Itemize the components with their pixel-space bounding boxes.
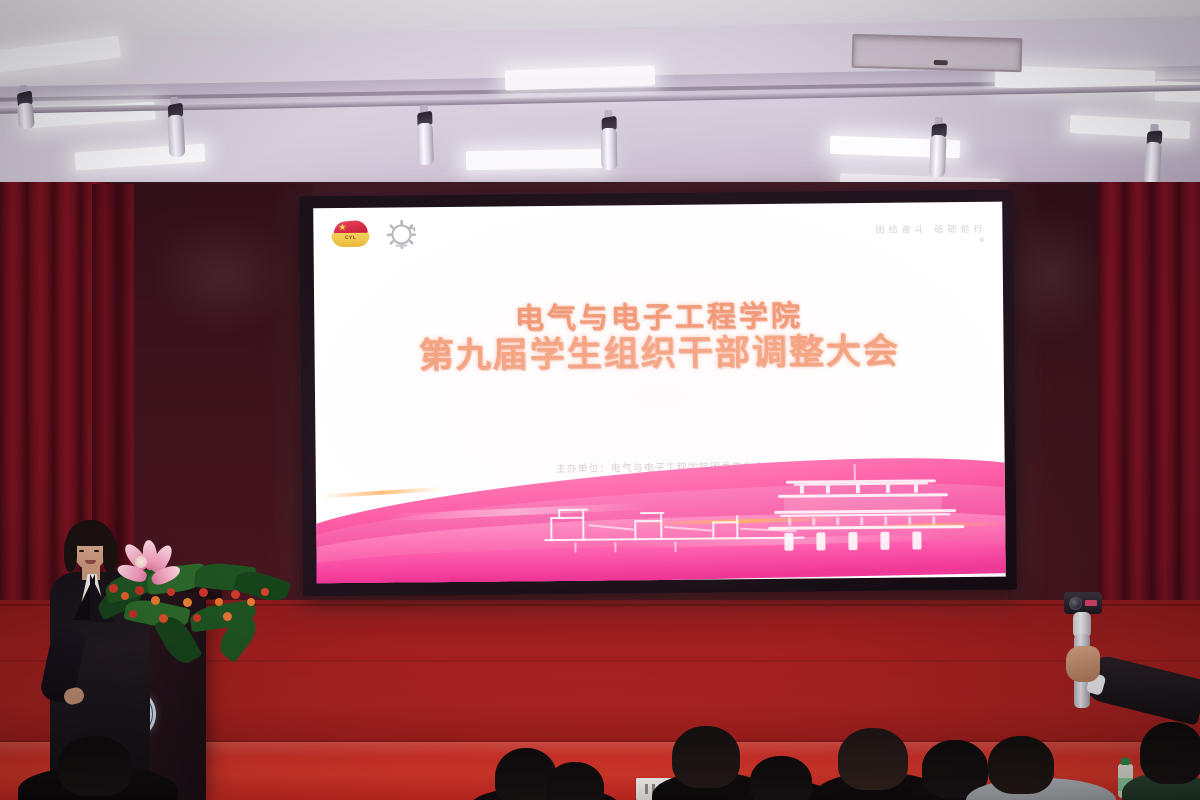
communist-youth-league-emblem-icon: CYL bbox=[331, 220, 369, 250]
audience-head bbox=[988, 736, 1054, 794]
track-spotlight bbox=[601, 117, 618, 169]
lily-center bbox=[135, 556, 147, 568]
presentation-slide: CYL bbox=[313, 202, 1006, 584]
audience-head bbox=[750, 756, 812, 800]
ceiling bbox=[0, 0, 1200, 186]
slide-title-line-1: 电气与电子工程学院 bbox=[314, 298, 1003, 337]
conference-hall-photo: CYL bbox=[0, 0, 1200, 800]
track-spotlight bbox=[1144, 131, 1163, 184]
great-wall-lineart bbox=[544, 495, 805, 555]
calligraphy-main-text: 团结奋斗 砥砺前行 bbox=[876, 222, 987, 236]
track-spotlight bbox=[929, 124, 947, 177]
projection-screen[interactable]: CYL bbox=[299, 190, 1017, 597]
slide-calligraphy: 团结奋斗 砥砺前行 题 bbox=[876, 222, 987, 245]
speaker-hair-side bbox=[64, 536, 77, 572]
videographer-hand bbox=[1062, 592, 1104, 722]
track-spotlight bbox=[167, 104, 186, 157]
audience-head bbox=[838, 728, 908, 790]
cyl-emblem-text: CYL bbox=[331, 235, 369, 241]
track-spotlight bbox=[416, 112, 434, 165]
calligraphy-signature: 题 bbox=[876, 237, 987, 245]
flower-arrangement bbox=[95, 540, 295, 670]
audience-head bbox=[58, 736, 132, 796]
ceiling-air-vent bbox=[852, 34, 1023, 72]
ceiling-soffit bbox=[0, 0, 1200, 40]
speaker-eye bbox=[79, 550, 84, 552]
audience-head bbox=[672, 726, 740, 788]
slide-title-line-2: 第九届学生组织干部调整大会 bbox=[314, 332, 1003, 378]
stage-curtain-right bbox=[1098, 182, 1200, 652]
ceiling-light-panel bbox=[75, 143, 206, 170]
tiananmen-lineart bbox=[768, 475, 979, 555]
camera-brand-tag bbox=[1085, 600, 1097, 606]
slide-title: 电气与电子工程学院 第九届学生组织干部调整大会 bbox=[314, 298, 1004, 378]
ceiling-light-panel bbox=[1070, 115, 1191, 139]
ceiling-light-panel bbox=[0, 36, 121, 75]
audience-head bbox=[1140, 722, 1200, 784]
university-gear-logo-icon bbox=[385, 218, 417, 250]
camera-lens-icon bbox=[1069, 597, 1082, 610]
ceiling-light-panel bbox=[466, 149, 606, 170]
hand bbox=[1066, 646, 1100, 682]
